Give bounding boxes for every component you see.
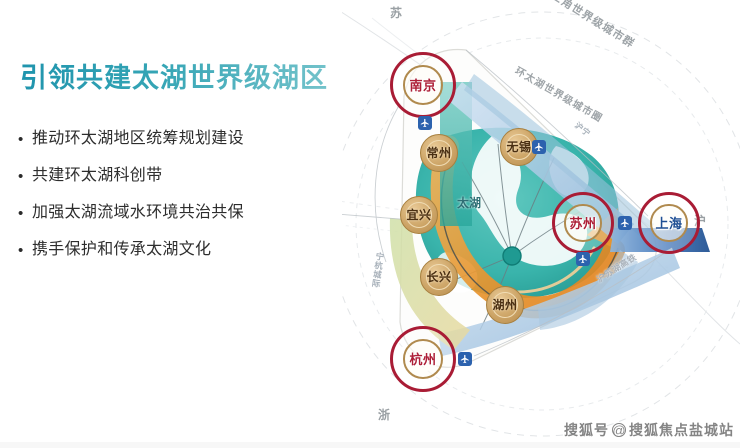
watermark-prefix: 搜狐号: [564, 420, 609, 440]
bullet-text: 携手保护和传承太湖文化: [32, 239, 211, 260]
city-label-hangzhou: 杭州: [409, 353, 436, 366]
airport-icon-hangzhou: [458, 352, 472, 366]
lake-center-node: [503, 247, 521, 265]
city-node-changxing[interactable]: 长兴: [420, 258, 458, 296]
province-tag-jiangsu: 苏: [390, 4, 402, 21]
list-item: • 加强太湖流域水环境共治共保: [18, 202, 358, 224]
bullet-text: 推动环太湖地区统筹规划建设: [32, 128, 244, 149]
airport-icon-wuxi: [532, 140, 546, 154]
province-tag-zhejiang: 浙: [378, 406, 390, 423]
city-label-changzhou: 常州: [426, 147, 451, 159]
bullet-list: • 推动环太湖地区统筹规划建设 • 共建环太湖科创带 • 加强太湖流域水环境共治…: [18, 128, 358, 276]
airport-icon-suzhou: [576, 252, 590, 266]
city-node-hangzhou[interactable]: 杭州: [390, 326, 456, 392]
city-label-yixing: 宜兴: [406, 209, 431, 221]
city-label-shanghai: 上海: [655, 217, 682, 230]
watermark-at-icon: @: [612, 423, 626, 437]
airport-icon-nanjing: [418, 116, 432, 130]
city-label-suzhou: 苏州: [569, 217, 596, 230]
watermark: 搜狐号 @ 搜狐焦点盐城站: [564, 420, 734, 440]
list-item: • 推动环太湖地区统筹规划建设: [18, 128, 358, 150]
airport-icon-shanghai: [618, 216, 632, 230]
city-node-nanjing[interactable]: 南京: [390, 52, 456, 118]
city-label-changxing: 长兴: [426, 271, 451, 283]
list-item: • 携手保护和传承太湖文化: [18, 239, 358, 261]
lake-label: 太湖: [457, 194, 481, 211]
taihu-lake-region-diagram: 长三角世界级城市群 环太湖世界级城市圈 苏 沪 浙 太湖 宁杭城际 沪苏湖高铁 …: [342, 0, 740, 448]
bullet-marker-icon: •: [18, 165, 32, 187]
bullet-text: 加强太湖流域水环境共治共保: [32, 202, 244, 223]
list-item: • 共建环太湖科创带: [18, 165, 358, 187]
city-label-huzhou: 湖州: [492, 299, 517, 311]
city-label-nanjing: 南京: [409, 79, 436, 92]
city-node-suzhou[interactable]: 苏州: [552, 192, 614, 254]
bullet-marker-icon: •: [18, 128, 32, 150]
city-label-wuxi: 无锡: [506, 141, 531, 153]
bullet-marker-icon: •: [18, 239, 32, 261]
bottom-cropped-strip: [0, 442, 740, 448]
bullet-marker-icon: •: [18, 202, 32, 224]
city-node-changzhou[interactable]: 常州: [420, 134, 458, 172]
city-node-shanghai[interactable]: 上海: [638, 192, 700, 254]
bullet-text: 共建环太湖科创带: [32, 165, 162, 186]
watermark-suffix: 搜狐焦点盐城站: [629, 420, 734, 440]
page-title: 引领共建太湖世界级湖区: [20, 56, 328, 95]
city-node-yixing[interactable]: 宜兴: [400, 196, 438, 234]
city-node-huzhou[interactable]: 湖州: [486, 286, 524, 324]
slide-text-panel: 引领共建太湖世界级湖区 • 推动环太湖地区统筹规划建设 • 共建环太湖科创带 •…: [0, 0, 372, 448]
